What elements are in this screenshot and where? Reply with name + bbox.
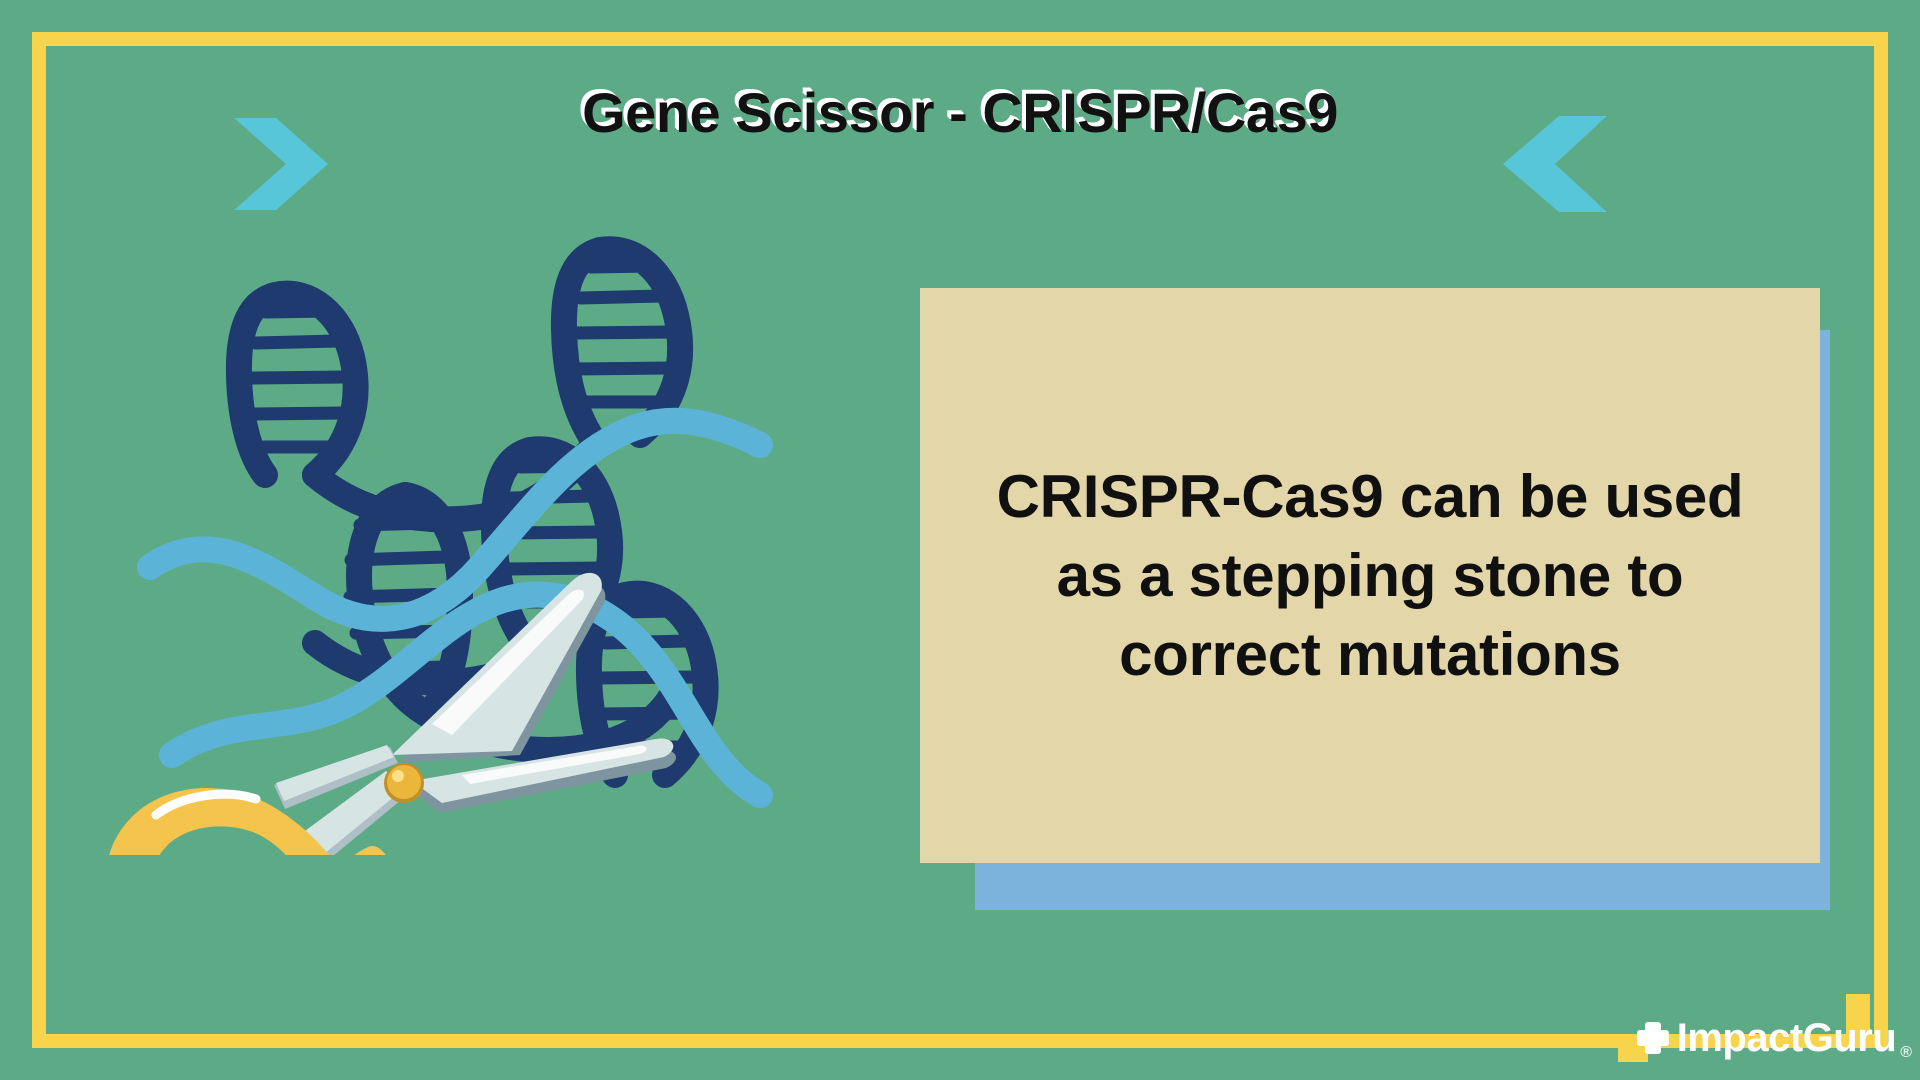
page-title: Gene Scissor - CRISPR/Cas9 [0,58,1920,168]
title-band: Gene Scissor - CRISPR/Cas9 [0,58,1920,168]
brand-watermark[interactable]: ImpactGuru ® [1635,1010,1912,1066]
brand-name: ImpactGuru [1677,1018,1896,1058]
dna-scissors-illustration [60,195,800,855]
poster-canvas: Gene Scissor - CRISPR/Cas9 [0,0,1920,1080]
quote-card: CRISPR-Cas9 can be used as a stepping st… [920,288,1820,863]
quote-card-text: CRISPR-Cas9 can be used as a stepping st… [990,457,1750,695]
brand-trademark: ® [1900,1044,1912,1062]
medical-plus-icon [1635,1020,1671,1056]
